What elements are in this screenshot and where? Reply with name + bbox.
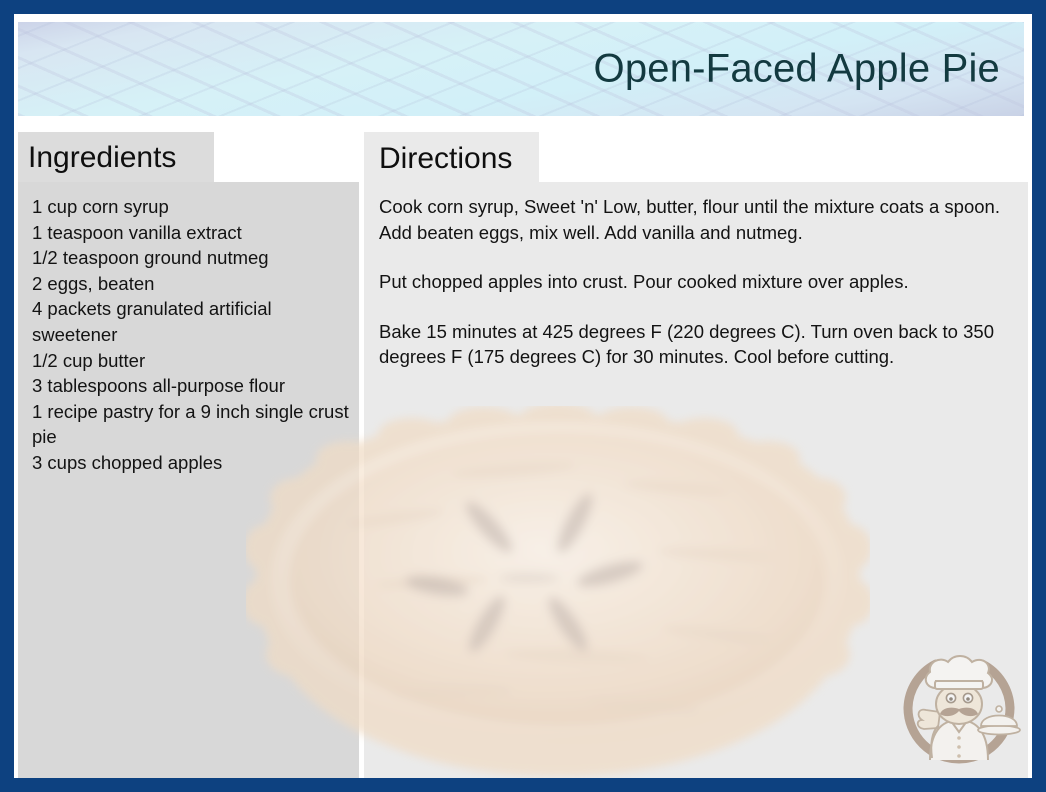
list-item: 1 recipe pastry for a 9 inch single crus… [32, 399, 349, 450]
list-item: 3 tablespoons all-purpose flour [32, 373, 349, 399]
list-item: 1 teaspoon vanilla extract [32, 220, 349, 246]
directions-text: Cook corn syrup, Sweet 'n' Low, butter, … [364, 194, 1028, 370]
list-item: 4 packets granulated artificial sweetene… [32, 296, 349, 347]
list-item: 1/2 teaspoon ground nutmeg [32, 245, 349, 271]
direction-paragraph: Put chopped apples into crust. Pour cook… [379, 269, 1022, 295]
ingredients-heading: Ingredients [28, 139, 176, 177]
direction-paragraph: Bake 15 minutes at 425 degrees F (220 de… [379, 319, 1022, 370]
directions-heading: Directions [379, 140, 512, 178]
page-title: Open-Faced Apple Pie [594, 47, 1000, 92]
slide-content-area: Open-Faced Apple Pie [14, 14, 1032, 778]
list-item: 2 eggs, beaten [32, 271, 349, 297]
direction-paragraph: Cook corn syrup, Sweet 'n' Low, butter, … [379, 194, 1022, 245]
list-item: 1/2 cup butter [32, 348, 349, 374]
ingredients-list: 1 cup corn syrup 1 teaspoon vanilla extr… [18, 194, 359, 476]
list-item: 1 cup corn syrup [32, 194, 349, 220]
header-banner: Open-Faced Apple Pie [18, 22, 1024, 116]
list-item: 3 cups chopped apples [32, 450, 349, 476]
recipe-slide: Open-Faced Apple Pie [0, 0, 1046, 792]
